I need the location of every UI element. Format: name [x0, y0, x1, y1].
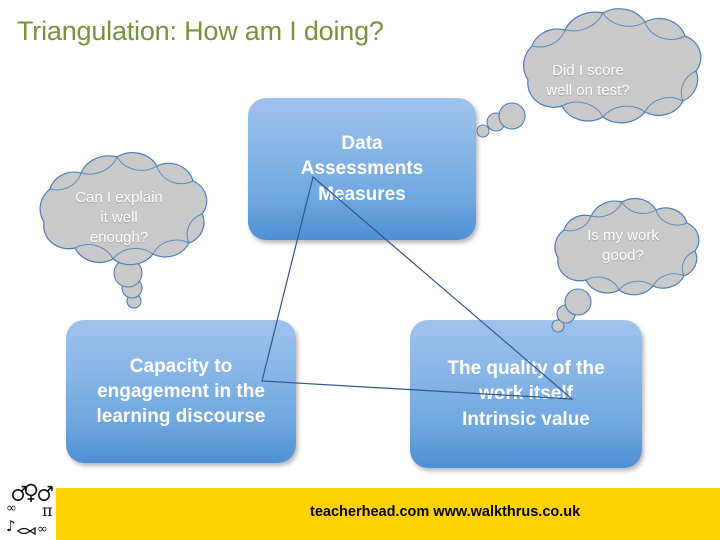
thought-cloud-explain-label: Can I explain it well enough?	[14, 188, 224, 248]
node-box-quality[interactable]: The quality of the work itself Intrinsic…	[410, 320, 642, 468]
teacherhead-logo-icon: π ∞ ∞ ♪	[4, 478, 62, 538]
slide-canvas: Triangulation: How am I doing? Data Asse…	[0, 0, 720, 540]
node-box-quality-label: The quality of the work itself Intrinsic…	[420, 356, 632, 431]
thought-cloud-explain[interactable]: Can I explain it well enough?	[14, 146, 224, 306]
node-box-data-label: Data Assessments Measures	[258, 131, 466, 206]
footer-credits[interactable]: teacherhead.com www.walkthrus.co.uk	[310, 504, 710, 520]
svg-text:∞: ∞	[6, 501, 17, 516]
node-box-capacity-label: Capacity to engagement in the learning d…	[76, 354, 286, 429]
teacherhead-logo[interactable]: π ∞ ∞ ♪	[4, 478, 62, 538]
thought-cloud-good[interactable]: Is my work good?	[534, 194, 712, 330]
svg-text:π: π	[42, 501, 53, 520]
thought-cloud-good-label: Is my work good?	[534, 226, 712, 266]
node-box-capacity[interactable]: Capacity to engagement in the learning d…	[66, 320, 296, 463]
thought-cloud-test[interactable]: Did I score well on test?	[470, 6, 706, 134]
svg-text:♪: ♪	[6, 517, 16, 535]
node-box-data[interactable]: Data Assessments Measures	[248, 98, 476, 240]
svg-text:∞: ∞	[37, 522, 48, 537]
thought-cloud-test-label: Did I score well on test?	[470, 61, 706, 101]
